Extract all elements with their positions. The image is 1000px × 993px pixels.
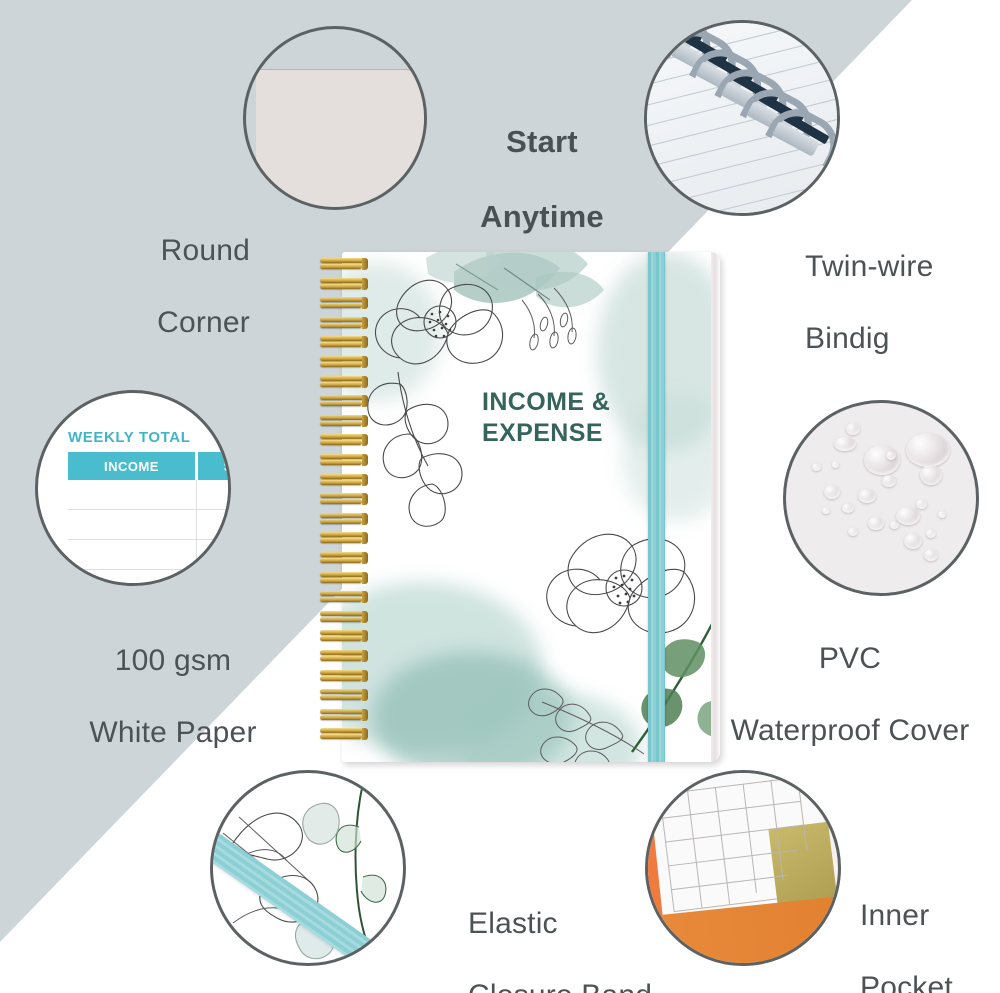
coil-ring [320, 513, 366, 525]
table-row [68, 480, 231, 510]
feature-circle-round-corner [243, 26, 427, 210]
coil-ring [320, 258, 366, 270]
column-header-income: INCOME [68, 452, 196, 480]
elastic-closure-band [648, 252, 665, 762]
feature-label-line1: PVC [700, 641, 1000, 677]
feature-label-line1: 100 gsm [48, 643, 298, 679]
coil-ring [320, 709, 366, 721]
coil-ring [320, 532, 366, 544]
coil-ring [320, 434, 366, 446]
feature-label-line2: Bindig [805, 321, 1000, 357]
weekly-total-title: WEEKLY TOTAL [68, 429, 231, 446]
table-header-row: INCOME $ [68, 452, 231, 480]
coil-ring [320, 474, 366, 486]
feature-label-line1: Round [60, 233, 250, 269]
coil-ring [320, 454, 366, 466]
coil-ring [320, 670, 366, 682]
feature-circle-elastic-closure-band [210, 770, 406, 966]
coil-ring [320, 356, 366, 368]
coil-ring [320, 591, 366, 603]
cover-title: INCOME & EXPENSE [482, 387, 662, 448]
coil-ring [320, 650, 366, 662]
weekly-total-table-icon: WEEKLY TOTAL INCOME $ [68, 429, 231, 586]
feature-label-twin-wire-binding: Twin-wire Bindig [805, 213, 1000, 393]
feature-label-round-corner: Round Corner [60, 197, 250, 377]
pocket-icon [659, 777, 813, 913]
rounded-page-corner-icon [256, 69, 425, 210]
coil-ring [320, 415, 366, 427]
feature-circle-pvc-waterproof-cover [783, 400, 979, 596]
coil-ring [320, 728, 366, 740]
table-row [68, 540, 231, 570]
coil-ring [320, 572, 366, 584]
feature-circle-inner-pocket: V [645, 770, 841, 966]
feature-label-line2: Pocket [860, 970, 1000, 993]
cover-title-line1: INCOME & [482, 387, 662, 418]
feature-label-line1: Start [452, 123, 632, 160]
feature-label-line2: Waterproof Cover [700, 713, 1000, 749]
feature-label-line2: Corner [60, 305, 250, 341]
coil-ring [320, 493, 366, 505]
coil-ring [320, 336, 366, 348]
feature-label-start-anytime: Start Anytime [452, 86, 632, 272]
column-header-amount: $ [196, 452, 231, 480]
feature-label-line1: Twin-wire [805, 249, 1000, 285]
coil-ring [320, 689, 366, 701]
product-notebook: INCOME & EXPENSE [320, 252, 720, 762]
feature-circle-white-paper: WEEKLY TOTAL INCOME $ [35, 390, 231, 586]
feature-label-line2: Closure Band [468, 978, 788, 993]
feature-label-inner-pocket: Inner Pocket [860, 862, 1000, 993]
coil-ring [320, 395, 366, 407]
cover-right-edge [711, 252, 720, 762]
notebook-cover: INCOME & EXPENSE [342, 252, 720, 762]
feature-label-line2: Anytime [452, 198, 632, 235]
coil-ring [320, 630, 366, 642]
feature-label-line2: White Paper [48, 715, 298, 751]
coil-ring [320, 297, 366, 309]
coil-ring [320, 376, 366, 388]
coil-ring [320, 317, 366, 329]
coil-ring [320, 552, 366, 564]
cover-title-line2: EXPENSE [482, 418, 662, 449]
coil-ring [320, 278, 366, 290]
table-row [68, 510, 231, 540]
feature-circle-twin-wire-binding [644, 20, 840, 216]
gold-spiral-coil [320, 258, 370, 756]
floral-line-art-bottom-right [532, 502, 720, 762]
weekly-total-table: INCOME $ [68, 452, 231, 586]
coil-ring [320, 611, 366, 623]
infographic-canvas: Round Corner Start Anytime Twin-wire B [0, 0, 1000, 993]
feature-label-white-paper: 100 gsm White Paper [48, 607, 298, 787]
feature-label-line1: Inner [860, 898, 1000, 934]
feature-label-pvc-waterproof-cover: PVC Waterproof Cover [700, 605, 1000, 785]
